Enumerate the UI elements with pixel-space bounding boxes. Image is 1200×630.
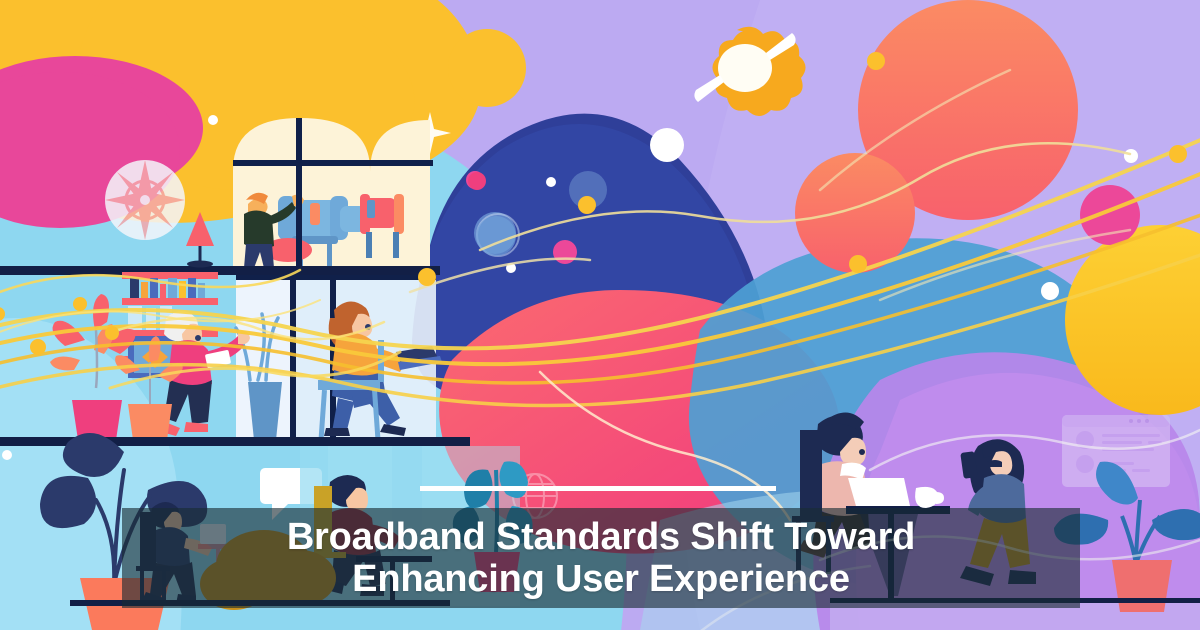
yellow-circle-small-top (448, 29, 526, 107)
middle-room (236, 275, 442, 440)
headline-line-2: Enhancing User Experience (352, 558, 850, 600)
hero-banner: Broadband Standards Shift Toward Enhanci… (0, 0, 1200, 630)
headline-overlay-band: Broadband Standards Shift Toward Enhanci… (122, 508, 1080, 608)
headline-line-1: Broadband Standards Shift Toward (287, 516, 915, 558)
white-divider-rule (420, 486, 776, 491)
coral-circle-small (795, 153, 915, 273)
upper-room (233, 118, 433, 268)
compass-rose-icon (105, 160, 185, 240)
floor-line-upper (0, 266, 440, 275)
